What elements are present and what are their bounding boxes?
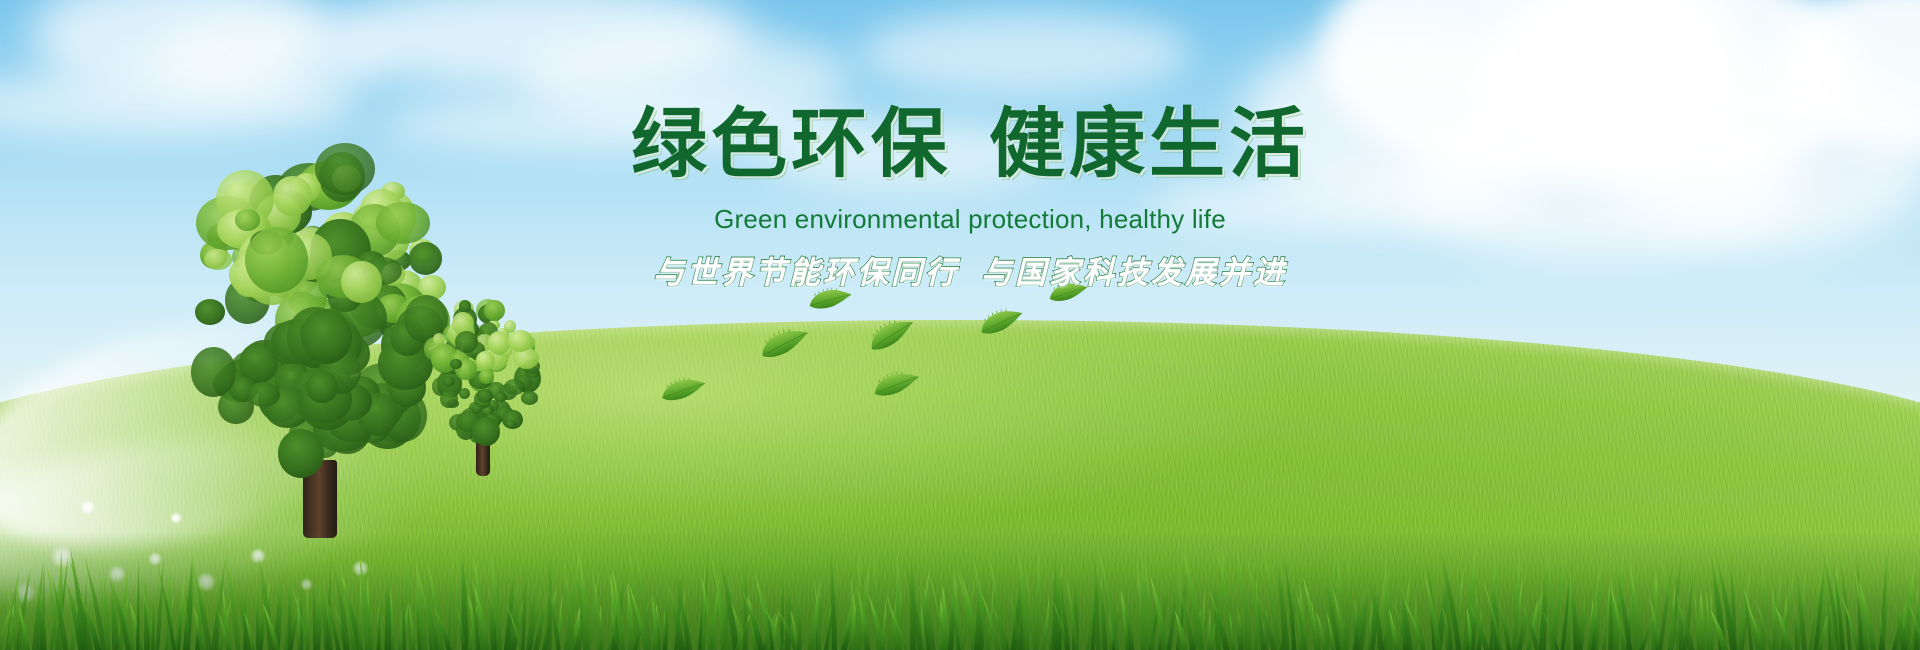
headline-part-2: 健康生活 bbox=[989, 99, 1309, 188]
subtitle: Green environmental protection, healthy … bbox=[620, 204, 1320, 235]
foliage-clump bbox=[455, 331, 478, 353]
foliage-clump bbox=[245, 227, 307, 293]
tagline-part-1: 与世界节能环保同行 bbox=[653, 255, 959, 291]
foliage-clump bbox=[409, 242, 443, 275]
foliage-clump bbox=[484, 300, 505, 321]
foliage-clump bbox=[433, 333, 445, 345]
foliage-clump bbox=[376, 202, 431, 244]
small-tree-canopy bbox=[430, 305, 536, 440]
cloud-upper-right-icon bbox=[860, 10, 1190, 95]
tagline-part-2: 与国家科技发展并进 bbox=[981, 255, 1287, 291]
foliage-clump bbox=[235, 209, 261, 230]
eco-hero-banner: 绿色环保健康生活 Green environmental protection,… bbox=[0, 0, 1920, 650]
foliage-clump bbox=[301, 309, 352, 364]
banner-text-block: 绿色环保健康生活 Green environmental protection,… bbox=[620, 104, 1320, 292]
foliage-clump bbox=[204, 249, 232, 270]
foliage-clump bbox=[191, 347, 236, 397]
large-tree-canopy bbox=[200, 170, 440, 460]
foliage-clump bbox=[273, 176, 311, 216]
foliage-clump bbox=[472, 403, 483, 414]
large-tree bbox=[200, 170, 440, 538]
foliage-clump bbox=[440, 390, 458, 409]
foliage-clump bbox=[459, 388, 470, 399]
tagline: 与世界节能环保同行与国家科技发展并进 bbox=[620, 247, 1320, 292]
foliage-clump bbox=[341, 261, 382, 303]
foliage-clump bbox=[494, 392, 506, 402]
foliage-clump bbox=[315, 143, 375, 195]
small-tree bbox=[430, 305, 536, 476]
grass-blades-icon bbox=[0, 532, 1920, 650]
page-title: 绿色环保健康生活 bbox=[620, 104, 1320, 184]
foliage-clump bbox=[195, 299, 225, 325]
foliage-clump bbox=[505, 420, 516, 428]
foliage-clump bbox=[479, 369, 494, 384]
foliage-clump bbox=[521, 391, 539, 405]
foliage-clump bbox=[508, 330, 533, 352]
foliage-clump bbox=[472, 417, 499, 446]
headline-part-1: 绿色环保 bbox=[631, 99, 951, 188]
foliage-clump bbox=[488, 331, 510, 355]
